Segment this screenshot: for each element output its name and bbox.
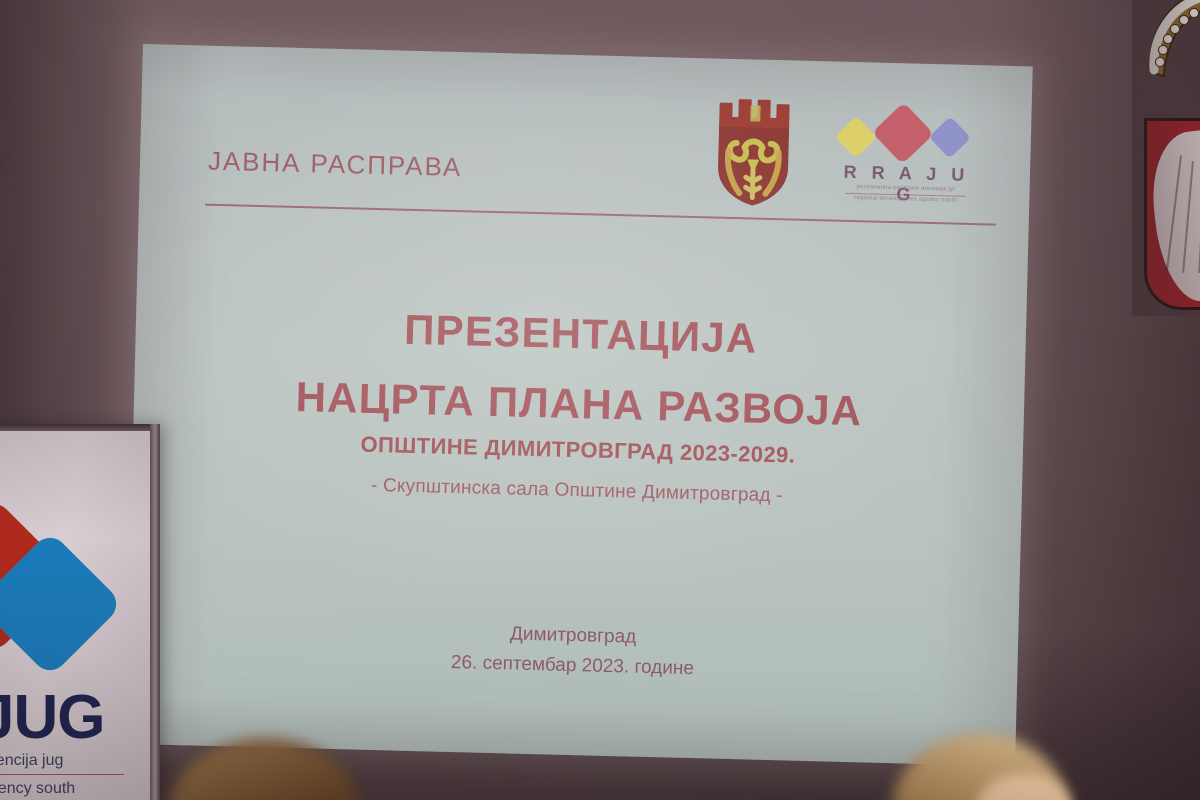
wall-coat-of-arms — [1132, 0, 1200, 316]
meeting-room-scene: ЈАВНА РАСПРАВА — [0, 0, 1200, 800]
banner-tagline-sr: agencija jug — [0, 752, 63, 770]
slide-venue: - Скупштинска сала Општине Димитровград … — [132, 469, 1022, 514]
municipal-coat-of-arms-icon — [705, 96, 808, 210]
slide-title-line-1: ПРЕЗЕНТАЦИЈА — [135, 299, 1026, 370]
presentation-slide: ЈАВНА РАСПРАВА — [125, 44, 1032, 766]
wall-shield — [1144, 118, 1200, 310]
crown-icon — [1146, 0, 1200, 82]
slide-logo-group: R R A J U G регионална развојна агенција… — [705, 96, 998, 221]
rollup-banner: JUG agencija jug agency south — [0, 424, 160, 800]
banner-wordmark: JUG — [0, 682, 104, 753]
rra-jug-logo: R R A J U G регионална развојна агенција… — [833, 104, 981, 218]
slide-kicker: ЈАВНА РАСПРАВА — [208, 146, 463, 183]
banner-tagline-en: agency south — [0, 780, 75, 798]
banner-divider — [0, 774, 124, 775]
banner-support-pole — [150, 424, 160, 800]
banner-top-rail — [0, 424, 160, 431]
projection-screen: ЈАВНА РАСПРАВА — [125, 44, 1032, 766]
rra-jug-diamonds-icon — [834, 104, 980, 168]
